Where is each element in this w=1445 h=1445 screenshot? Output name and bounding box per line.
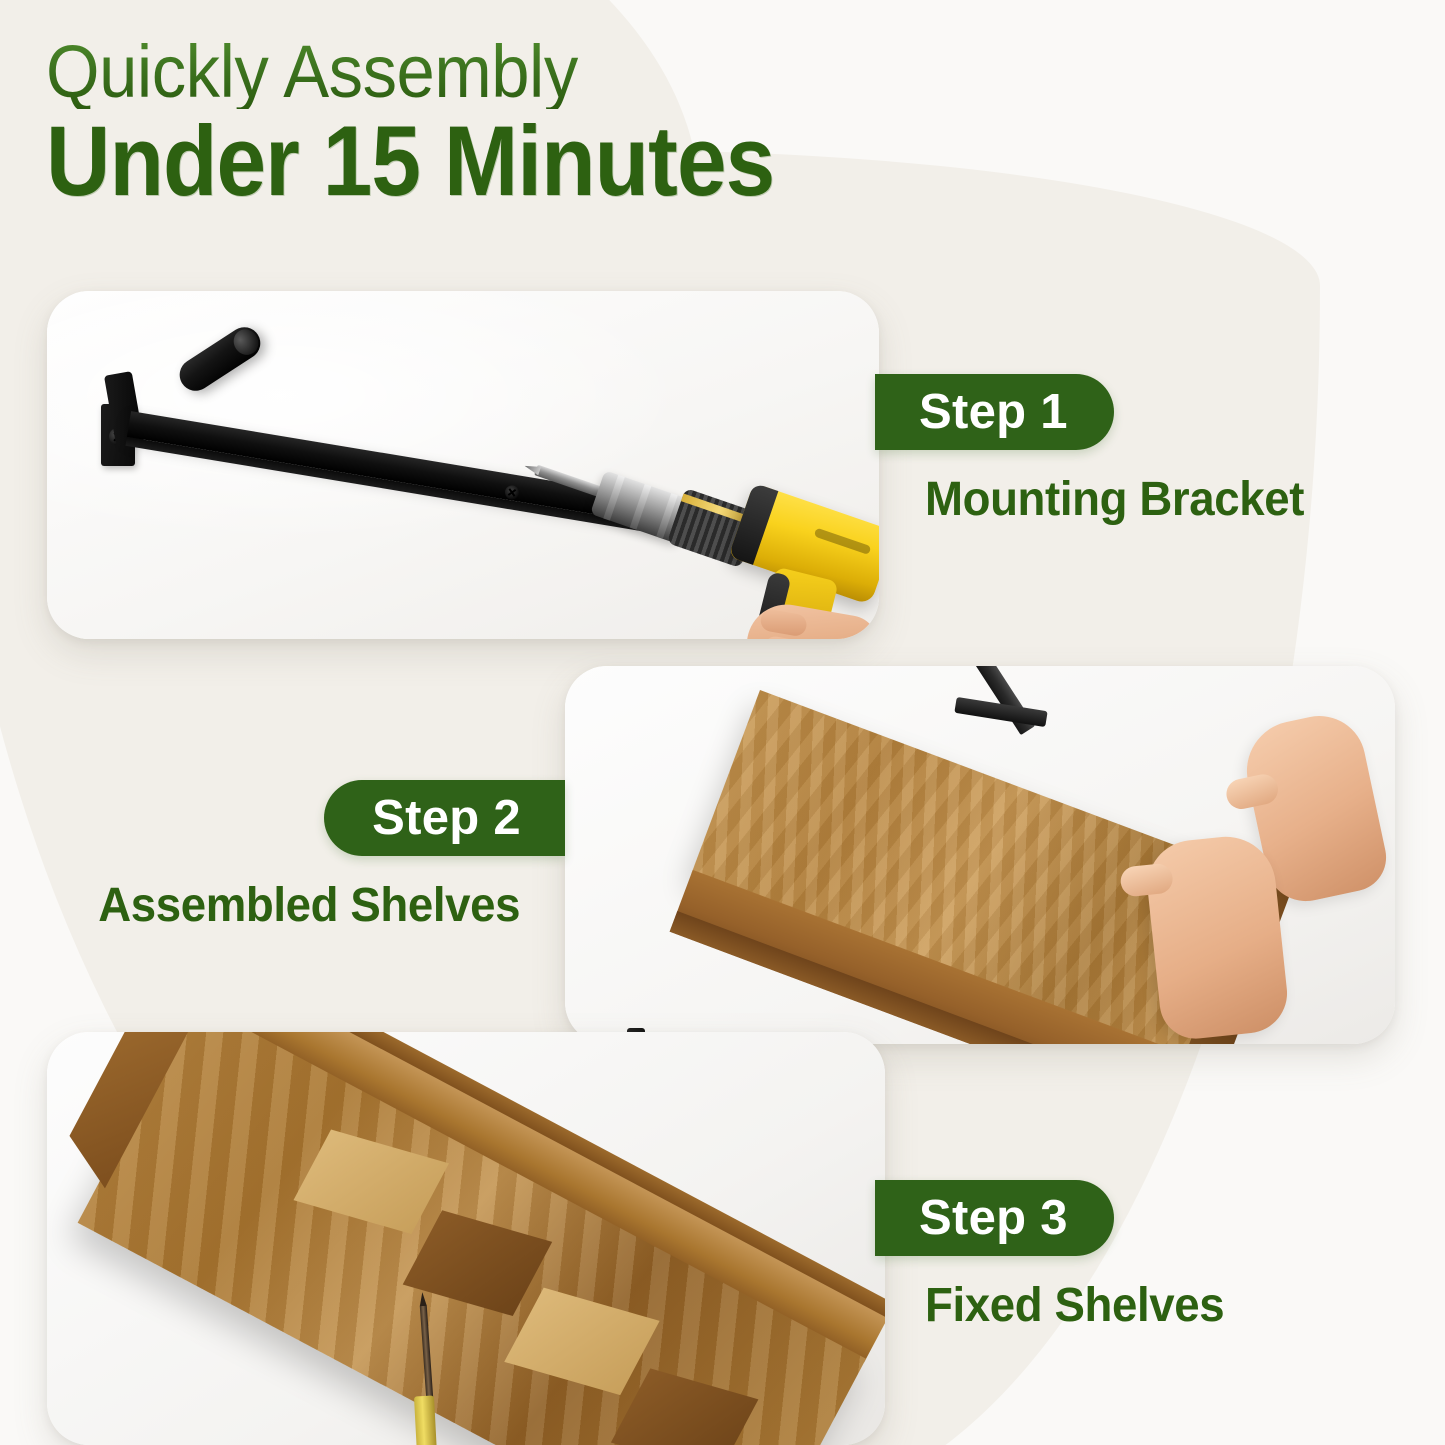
wood-shelf-underside — [78, 1032, 866, 1445]
chuck-ring — [630, 484, 652, 530]
step-1-photo-card — [47, 291, 879, 639]
thumb — [1119, 862, 1174, 897]
hand — [1143, 832, 1291, 1042]
step-1-photo — [47, 291, 879, 639]
finger — [762, 635, 811, 639]
step-2-photo — [565, 666, 1395, 1044]
chuck-ring — [603, 475, 625, 521]
step-3-photo-card — [47, 1032, 885, 1445]
screw-icon — [504, 484, 520, 500]
step-3-label: Fixed Shelves — [925, 1278, 1224, 1333]
step-3-badge: Step 3 — [875, 1180, 1114, 1256]
finger — [759, 608, 808, 638]
headline-line-2: Under 15 Minutes — [46, 111, 774, 210]
infographic-canvas: Quickly Assembly Under 15 Minutes — [0, 0, 1445, 1445]
step-1-label: Mounting Bracket — [925, 472, 1304, 527]
headline-block: Quickly Assembly Under 15 Minutes — [46, 36, 855, 210]
thumb — [1224, 772, 1281, 812]
step-2-photo-card — [565, 666, 1395, 1044]
step-2-badge: Step 2 — [324, 780, 565, 856]
headline-line-1: Quickly Assembly — [46, 36, 799, 109]
step-2-label: Assembled Shelves — [98, 878, 520, 933]
step-1-badge: Step 1 — [875, 374, 1114, 450]
step-3-photo — [47, 1032, 885, 1445]
wall-highlight — [47, 291, 879, 639]
drill-vent — [814, 528, 872, 555]
